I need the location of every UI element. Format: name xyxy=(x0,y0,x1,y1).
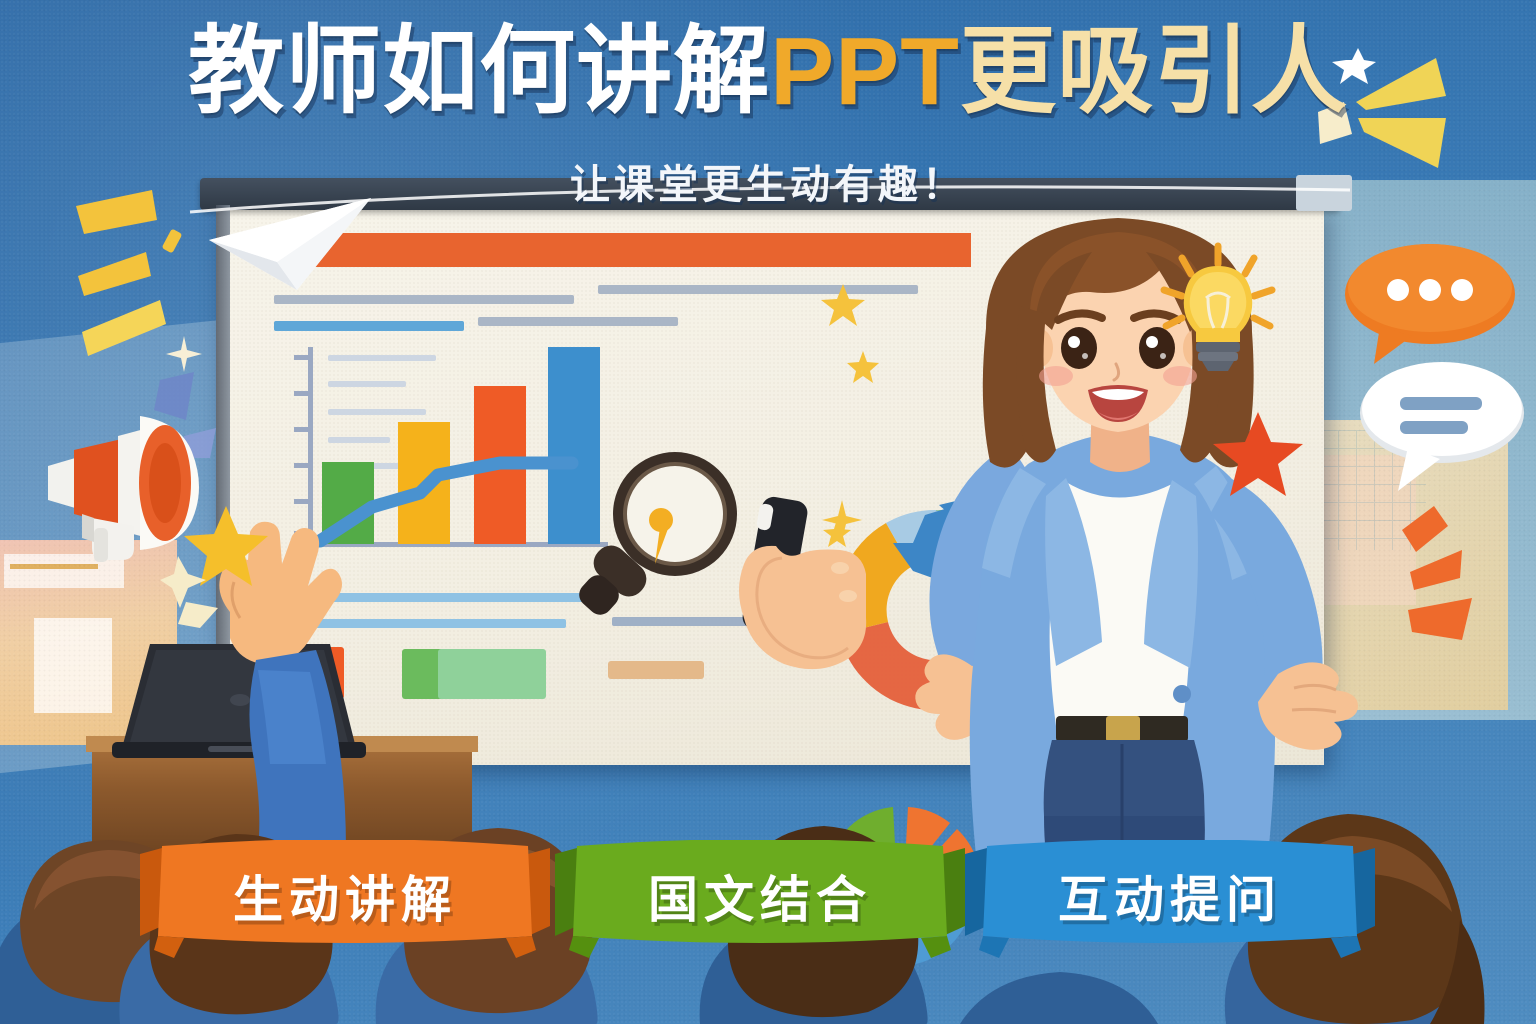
ribbon-text-image-combination[interactable]: 国文结合 xyxy=(575,846,945,946)
poster-title: 教师如何讲解PPT更吸引人 xyxy=(0,22,1536,123)
trend-line xyxy=(312,345,612,555)
feature-ribbons: 生动讲解 国文结合 互动提问 xyxy=(0,846,1536,966)
ribbon-label: 国文结合 xyxy=(575,846,945,946)
title-part-1: 教师如何讲解 xyxy=(188,22,770,123)
lightbulb-icon xyxy=(1148,238,1288,378)
axis-tick xyxy=(294,499,310,504)
star-icon xyxy=(820,282,866,328)
burst-dashes-right xyxy=(1400,500,1530,660)
megaphone-icon xyxy=(30,378,240,568)
slide-text-line-blue xyxy=(306,593,606,602)
axis-tick xyxy=(294,463,310,468)
poster-subtitle: 让课堂更生动有趣！ xyxy=(0,152,1536,210)
axis-tick xyxy=(294,427,310,432)
ribbon-vivid-explanation[interactable]: 生动讲解 xyxy=(160,846,530,946)
sparkle-icon xyxy=(166,336,202,372)
legend-chip-tan xyxy=(608,661,704,679)
axis-tick xyxy=(294,355,310,360)
slide-text-line xyxy=(478,317,678,326)
ribbon-label: 生动讲解 xyxy=(160,846,530,946)
speech-bubble-icon xyxy=(1340,238,1520,368)
title-part-2: PPT xyxy=(770,22,960,123)
slide-text-line-blue xyxy=(274,321,464,331)
star-icon xyxy=(1212,410,1304,498)
star-icon xyxy=(822,518,852,548)
star-icon xyxy=(846,350,880,384)
ribbon-label: 互动提问 xyxy=(985,846,1355,946)
title-part-3: 更吸引人 xyxy=(960,22,1348,123)
poster-canvas: 教师如何讲解PPT更吸引人 让课堂更生动有趣！ 生动讲解 xyxy=(0,0,1536,1024)
ribbon-interactive-questioning[interactable]: 互动提问 xyxy=(985,846,1355,946)
axis-tick xyxy=(294,391,310,396)
chat-bubble-icon xyxy=(1352,355,1532,495)
